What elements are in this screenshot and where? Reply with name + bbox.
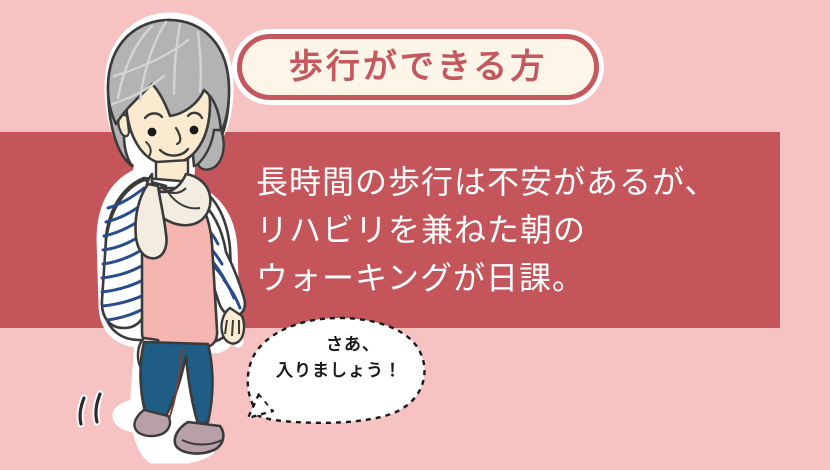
badge-frame: 歩行ができる方 (237, 34, 599, 100)
speech-bubble: さあ、 入りましょう！ (243, 312, 433, 424)
elderly-woman-illustration (48, 12, 268, 470)
body-copy-line-1: 長時間の歩行は不安があるが、 (256, 158, 776, 206)
shoe-front (175, 422, 224, 453)
poster-canvas: 歩行ができる方 長時間の歩行は不安があるが、 リハビリを兼ねた朝の ウォーキング… (0, 0, 830, 470)
body-copy-line-3: ウォーキングが日課。 (256, 254, 776, 302)
title-badge: 歩行ができる方 (232, 29, 604, 105)
body-copy-line-2: リハビリを兼ねた朝の (256, 206, 776, 254)
speech-bubble-line-2: 入りましょう！ (261, 358, 417, 384)
badge-label: 歩行ができる方 (289, 50, 547, 84)
figure-svg (48, 12, 268, 470)
speech-bubble-text: さあ、 入りましょう！ (261, 332, 417, 384)
motion-lines (80, 394, 100, 424)
body-copy: 長時間の歩行は不安があるが、 リハビリを兼ねた朝の ウォーキングが日課。 (256, 158, 776, 302)
eye-left (148, 128, 157, 137)
eye-right (190, 126, 199, 135)
speech-bubble-line-1: さあ、 (261, 332, 417, 358)
